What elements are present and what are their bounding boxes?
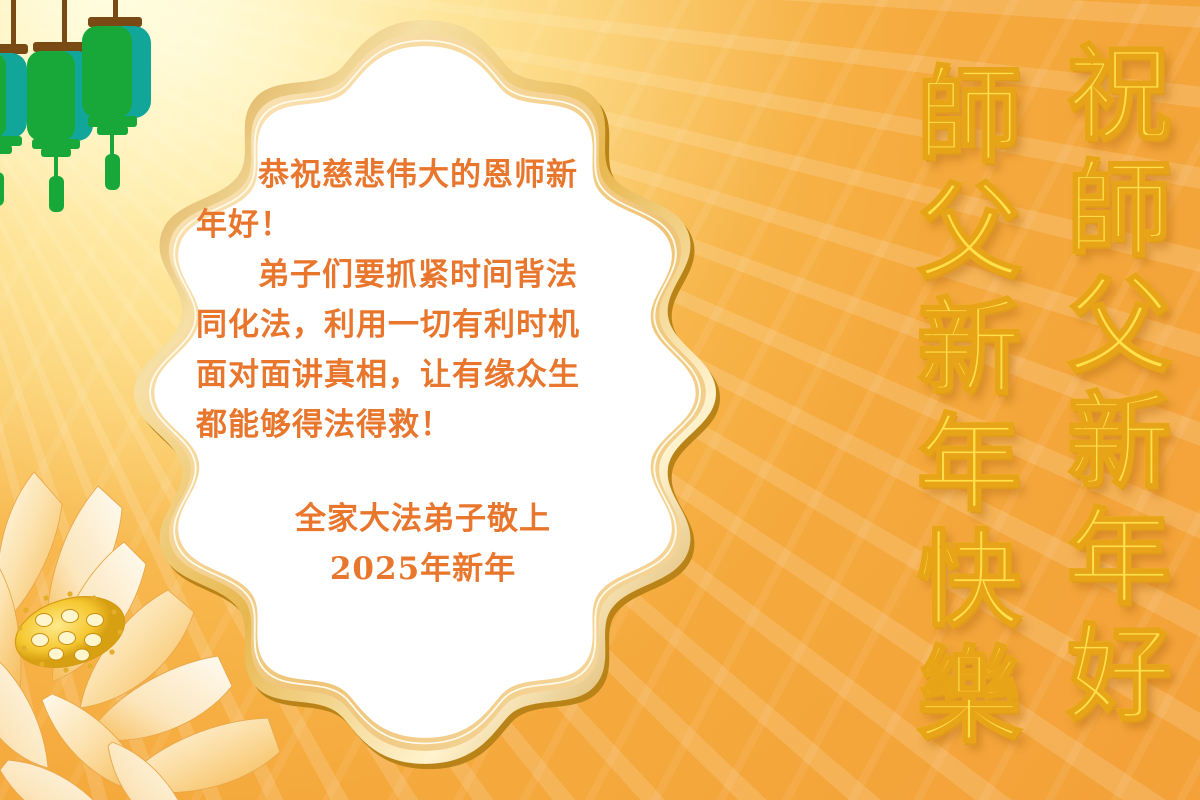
calligraphy-char: 父 (1067, 268, 1171, 384)
calligraphy-column-right: 祝 師 父 新 年 好 (1046, 36, 1192, 800)
gold-calligraphy: 祝 師 父 新 年 好 師 父 新 年 快 樂 (892, 0, 1192, 800)
calligraphy-char: 好 (1067, 616, 1171, 732)
letter-line-1: 恭祝慈悲伟大的恩师新 (196, 150, 664, 200)
lantern-icon (0, 0, 28, 206)
greeting-card: 恭祝慈悲伟大的恩师新 年好！ 弟子们要抓紧时间背法 同化法，利用一切有利时机 面… (0, 0, 1200, 800)
signature-text: 全家大法弟子敬上 (196, 494, 650, 544)
calligraphy-char: 年 (917, 406, 1021, 522)
letter-line-6: 都能够得法得救！ (196, 400, 664, 450)
calligraphy-char: 師 (917, 58, 1021, 174)
calligraphy-char: 師 (1067, 152, 1171, 268)
signature-date: 2025年新年 (196, 544, 650, 594)
calligraphy-char: 新 (1067, 384, 1171, 500)
calligraphy-char: 父 (917, 174, 1021, 290)
calligraphy-char: 快 (917, 522, 1021, 638)
calligraphy-char: 新 (917, 290, 1021, 406)
letter-line-2: 年好！ (196, 200, 664, 250)
calligraphy-char: 樂 (917, 638, 1021, 754)
calligraphy-char: 祝 (1067, 36, 1171, 152)
calligraphy-char: 年 (1067, 500, 1171, 616)
letter-line-4: 同化法，利用一切有利时机 (196, 300, 664, 350)
calligraphy-column-left: 師 父 新 年 快 樂 (896, 36, 1042, 800)
letter-signature-block: 全家大法弟子敬上 2025年新年 (196, 494, 664, 594)
letter-line-3: 弟子们要抓紧时间背法 (196, 250, 664, 300)
greeting-letter: 恭祝慈悲伟大的恩师新 年好！ 弟子们要抓紧时间背法 同化法，利用一切有利时机 面… (196, 150, 664, 620)
letter-line-5: 面对面讲真相，让有缘众生 (196, 350, 664, 400)
